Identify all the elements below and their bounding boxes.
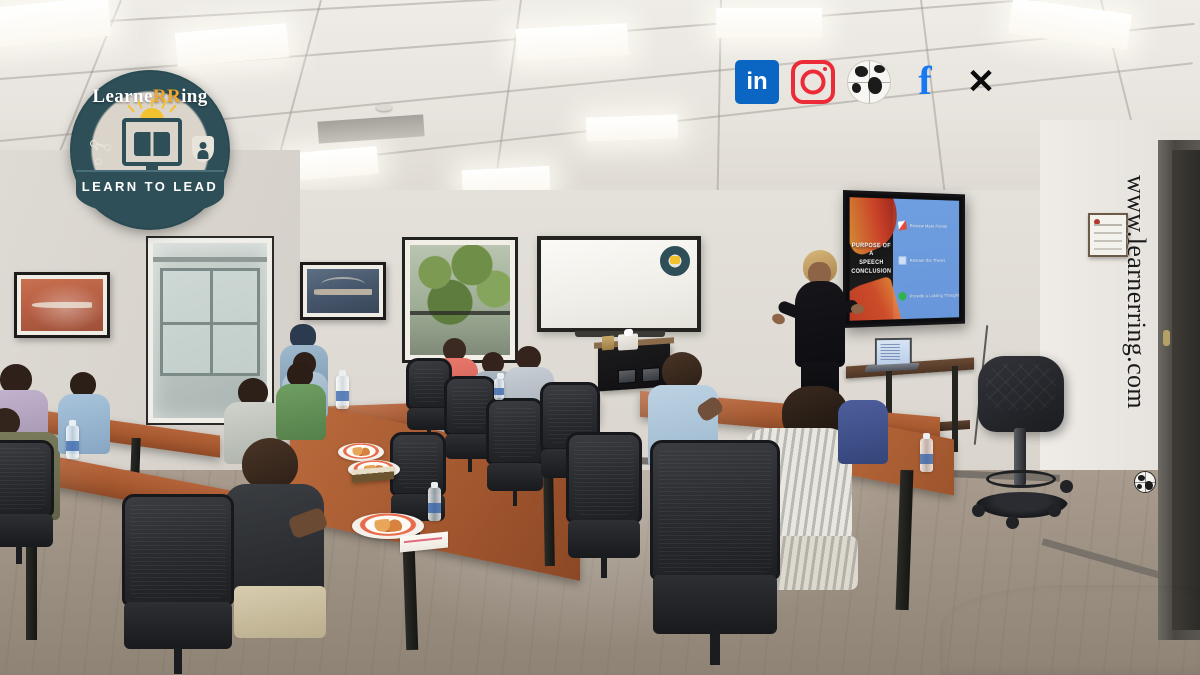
smoke-detector-icon [376,104,392,111]
chair-seat [0,514,53,546]
chair-stem [174,645,183,674]
globe-landmass [852,83,861,93]
slide-bullet: Provide a Lasting Thought [898,291,955,301]
logo-banner: LEARN TO LEAD [76,170,224,216]
slide-bullet: Review Main Points [898,221,955,231]
instagram-icon[interactable] [791,60,835,104]
linkedin-icon[interactable]: in [735,60,779,104]
green-dot-icon [898,292,906,301]
student [838,400,890,470]
window-pane [160,268,260,377]
globe-landmass [855,66,868,77]
globe-landmass [1137,484,1142,489]
stool-caster [1060,480,1073,493]
office-chair[interactable] [650,440,780,665]
student-torso [224,484,324,594]
door[interactable] [1172,150,1200,630]
chair-back [122,494,234,606]
whiteboard [537,236,701,332]
tissue-box [618,333,638,350]
office-chair[interactable] [0,440,54,564]
water-bottle [428,487,441,521]
presentation-slide: PURPOSE OF A SPEECH CONCLUSION Review Ma… [850,197,959,321]
presenter-body [795,281,845,367]
website-url[interactable]: www.learnerring.com [1121,175,1151,409]
student-head [242,438,298,490]
ceiling-light-panel [716,8,822,38]
water-bottle [920,438,933,472]
chair-back [566,432,642,523]
chair-back [486,398,544,465]
chair-stem [710,629,720,665]
globe-landmass [1138,475,1145,481]
slide-bullet: Restate the Thesis [898,257,955,266]
slide-bullet-text: Review Main Points [910,223,947,228]
stool-caster [1048,504,1061,517]
barn-door-rail [153,257,267,262]
network-node-icon [90,140,112,166]
globe-landmass [1145,481,1153,490]
document-icon [898,257,906,266]
window-mullion [410,311,510,315]
water-bottle [336,375,349,409]
slide-bullet-text: Provide a Lasting Thought [910,293,959,299]
office-chair[interactable] [122,494,234,674]
certificate-seal [1094,219,1100,225]
marker-cup [602,336,614,351]
water-bottle [494,378,504,400]
laptop-screen [875,338,912,367]
student [224,438,328,638]
open-book-icon [134,132,170,156]
paper-plate [338,443,384,461]
stool-caster [972,504,985,517]
logo-word-suffix: ing [181,86,208,107]
door-handle[interactable] [1163,330,1170,346]
linkedin-label: in [746,68,767,96]
drafting-stool[interactable] [978,356,1064,432]
office-chair[interactable] [486,398,544,506]
chair-seat [568,520,641,558]
x-twitter-icon[interactable]: ✕ [959,60,1003,104]
chair-back [0,440,54,517]
water-bottle [66,425,79,459]
student-torso [276,384,326,440]
credenza-glass-door[interactable] [618,369,636,384]
student-shorts [234,586,326,638]
check-arrow-icon [898,221,907,231]
chair-stem [513,489,518,506]
ceiling-light-panel [515,23,629,61]
globe-landmass [874,65,885,73]
white-cloth [940,585,1200,675]
x-label: ✕ [967,63,996,101]
student-torso [838,400,888,464]
chair-seat [653,575,778,634]
stool-caster [1006,516,1019,529]
social-icon-bar: in f ✕ [735,60,1003,104]
chair-seat [487,463,543,491]
globe-icon[interactable] [847,60,891,104]
whiteboard-logo-decal [660,246,690,276]
chair-stem [601,555,607,578]
student [276,362,326,440]
chair-seat [124,602,232,649]
chair-stem [468,457,472,472]
stool-footring [986,470,1056,488]
chair-stem [16,544,22,564]
slide-bullet-text: Restate the Thesis [910,258,946,263]
globe-landmass [868,77,882,94]
framed-helicopter-photo [14,272,110,338]
facebook-label: f [918,58,931,103]
facebook-icon[interactable]: f [903,60,947,104]
presenter-hand [851,304,864,314]
office-chair[interactable] [566,432,642,578]
shield-person-icon [192,136,214,162]
slide-bullet-panel: Review Main Points Restate the Thesis Pr… [893,199,959,320]
logo-tagline: LEARN TO LEAD [82,179,218,194]
learnerring-logo: LearneRRing LEARN TO LEAD [70,70,230,230]
ceiling-light-panel [586,114,679,141]
classroom-photo: PURPOSE OF A SPEECH CONCLUSION Review Ma… [0,0,1200,675]
chair-back [650,440,780,580]
monitor-icon [122,118,182,166]
globe-icon [1134,471,1156,493]
framed-osprey-photo [300,262,386,320]
